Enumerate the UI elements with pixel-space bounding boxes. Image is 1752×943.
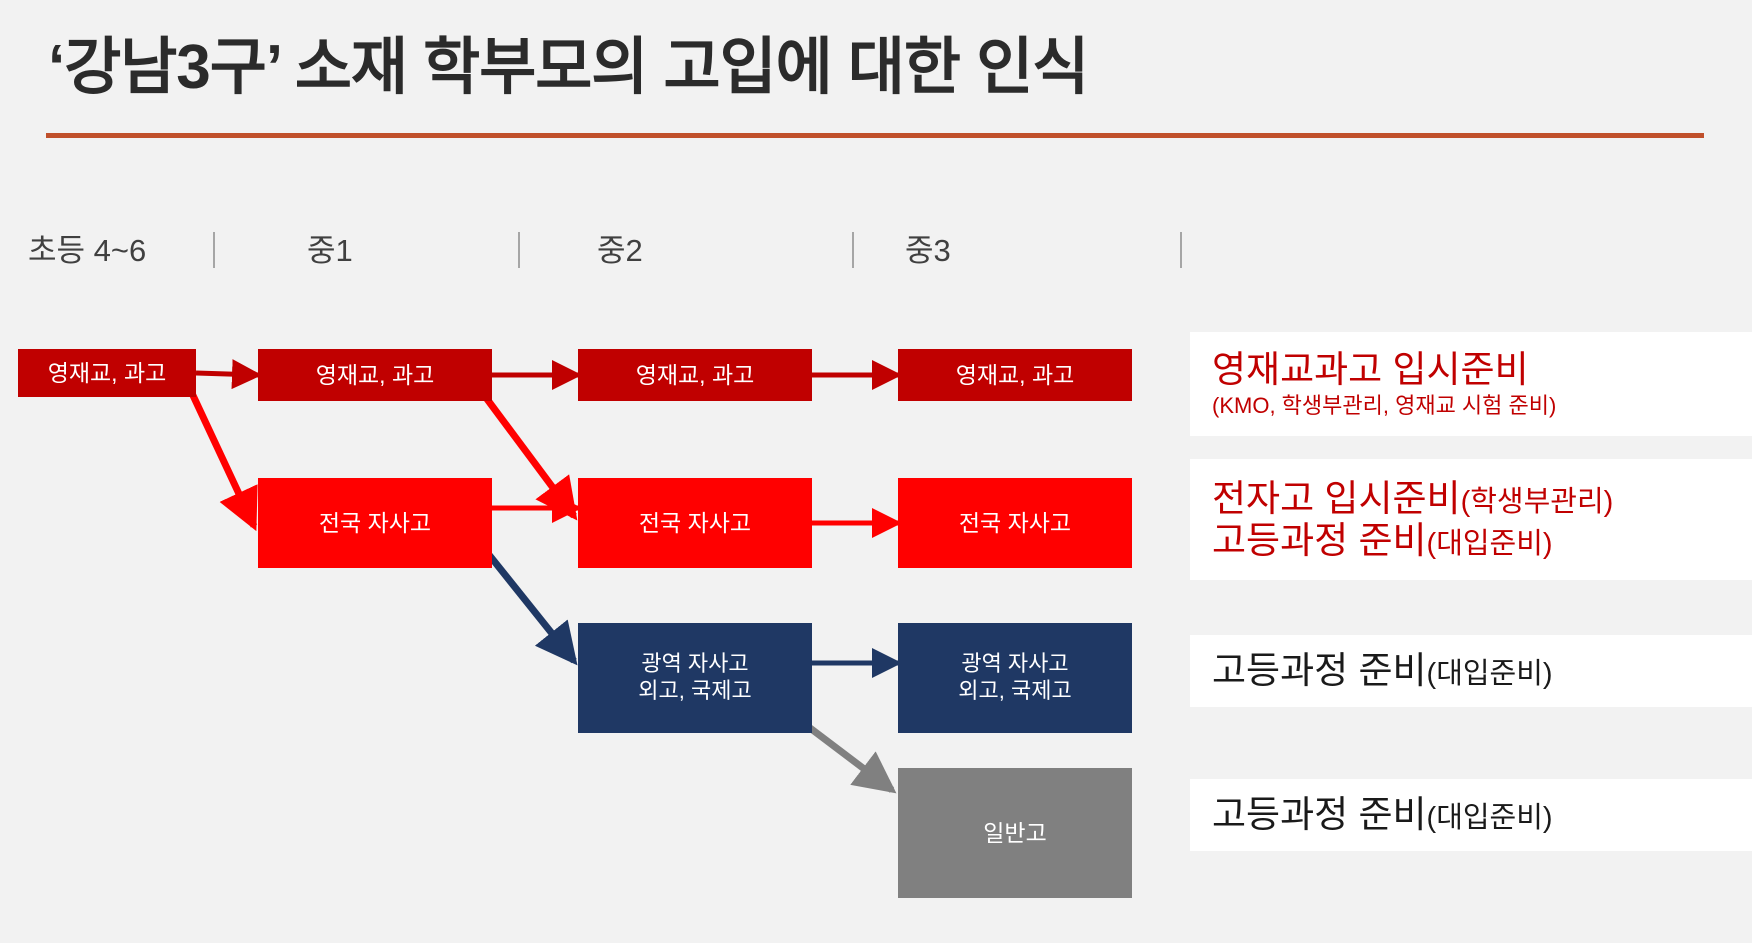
flow-node-r4c4[interactable]: 일반고	[898, 768, 1132, 898]
arrow-r2c2-to-r3c3	[482, 546, 574, 661]
flow-node-r2c4[interactable]: 전국 자사고	[898, 478, 1132, 568]
slide-canvas: ‘강남3구’ 소재 학부모의 고입에 대한 인식 초등 4~6중1중2중3 영재…	[0, 0, 1752, 943]
flow-node-r1c3[interactable]: 영재교, 과고	[578, 349, 812, 401]
arrow-r1c1-to-r2c2	[190, 389, 254, 526]
flow-node-r2c2[interactable]: 전국 자사고	[258, 478, 492, 568]
flow-connectors	[0, 0, 1752, 943]
flow-node-r3c4[interactable]: 광역 자사고 외고, 국제고	[898, 623, 1132, 733]
flow-node-r1c2[interactable]: 영재교, 과고	[258, 349, 492, 401]
flow-node-r1c1[interactable]: 영재교, 과고	[18, 349, 196, 397]
flow-node-r2c3[interactable]: 전국 자사고	[578, 478, 812, 568]
flow-node-r3c3[interactable]: 광역 자사고 외고, 국제고	[578, 623, 812, 733]
arrow-r1c1-to-r1c2	[196, 373, 258, 375]
arrow-r1c2-to-r2c3	[484, 395, 574, 516]
flow-node-r1c4[interactable]: 영재교, 과고	[898, 349, 1132, 401]
